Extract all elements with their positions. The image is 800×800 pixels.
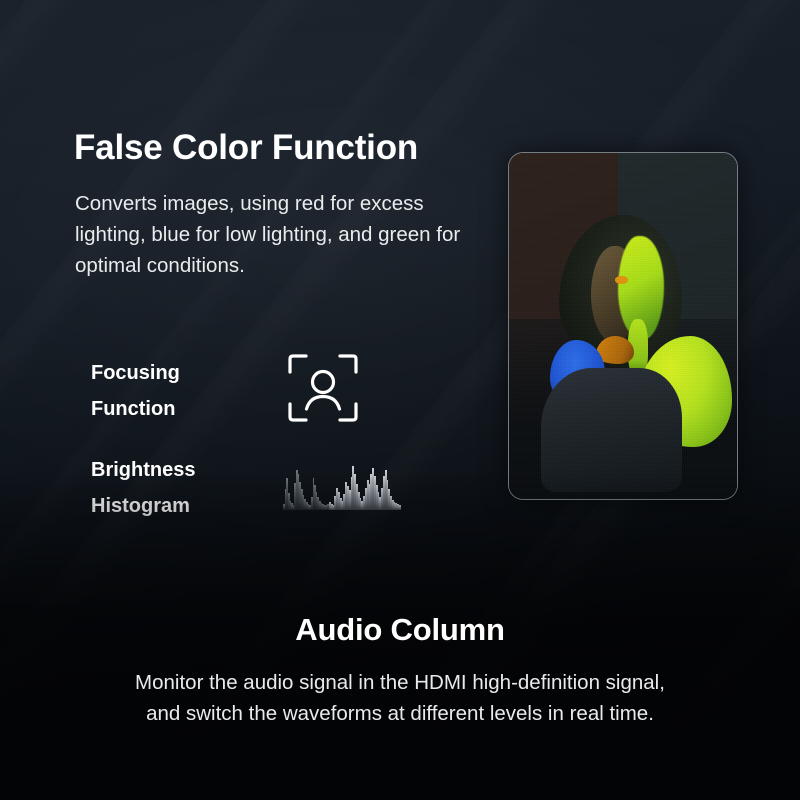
audio-column-heading: Audio Column [0,612,800,648]
histogram-bright-bars [329,466,401,510]
brightness-histogram-label: Brightness Histogram [91,452,261,524]
histogram-dim-bars [283,466,329,510]
audio-column-description-line2: and switch the waveforms at different le… [60,698,740,729]
audio-column-description-line1: Monitor the audio signal in the HDMI hig… [60,667,740,698]
audio-column-description: Monitor the audio signal in the HDMI hig… [60,667,740,729]
subject-eye-accent [615,276,628,284]
false-color-feature-slide: False Color Function Converts images, us… [0,0,800,800]
subject-skirt [541,368,682,493]
feature-brightness-histogram: Brightness Histogram [91,452,401,524]
feature-focusing-function: Focusing Function [91,352,360,429]
face-focus-icon [286,352,360,429]
focusing-function-label-line1: Focusing [91,355,261,391]
false-color-description: Converts images, using red for excess li… [75,188,495,281]
false-color-preview-card [508,152,738,500]
false-color-heading: False Color Function [74,128,418,168]
focusing-function-label: Focusing Function [91,355,261,427]
histogram-bar [399,505,401,510]
brightness-histogram-label-line2: Histogram [91,488,261,524]
histogram-icon [283,466,401,510]
preview-subject [509,153,737,499]
focusing-function-label-line2: Function [91,391,261,427]
brightness-histogram-label-line1: Brightness [91,452,261,488]
